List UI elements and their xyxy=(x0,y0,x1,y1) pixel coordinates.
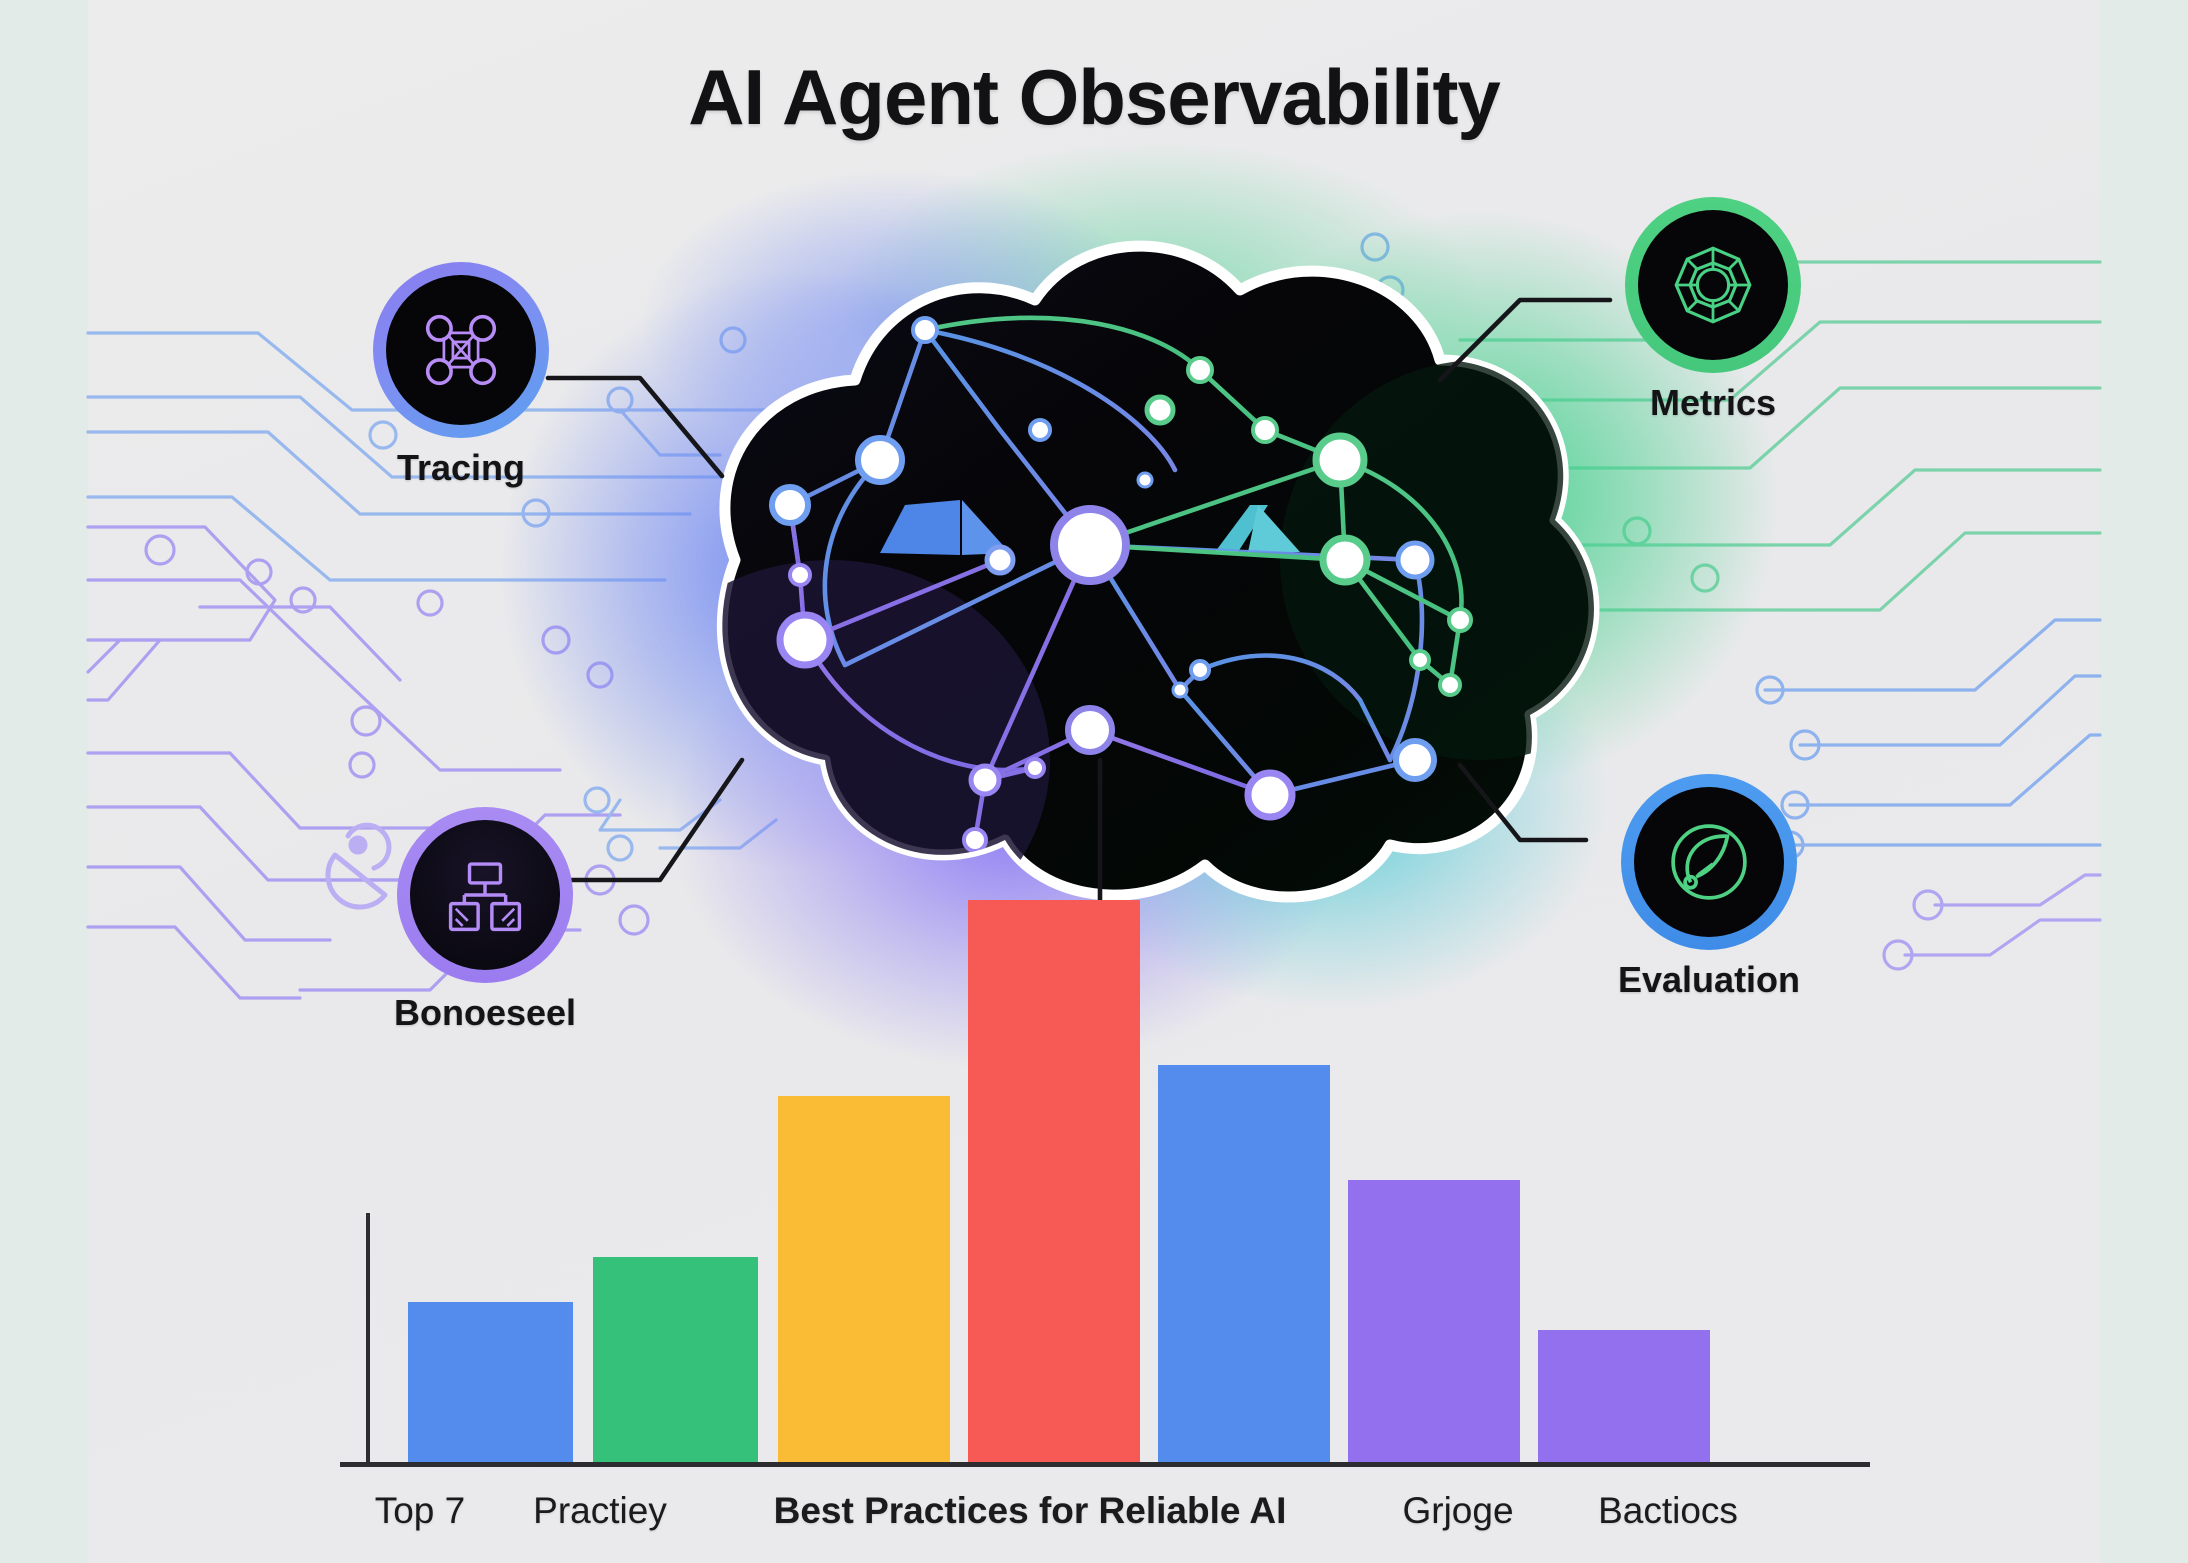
radar-chart-icon xyxy=(1667,239,1759,331)
bar-4-red[interactable] xyxy=(968,900,1140,1462)
evaluation-ring xyxy=(1634,787,1784,937)
node-label: Evaluation xyxy=(1618,959,1800,1001)
node-metrics[interactable]: Metrics xyxy=(1638,210,1788,424)
node-graph-icon xyxy=(416,305,506,395)
node-label: Tracing xyxy=(397,447,525,489)
metrics-ring xyxy=(1638,210,1788,360)
tick-label-practiey: Practiey xyxy=(490,1490,710,1532)
bar-2-green[interactable] xyxy=(593,1257,758,1462)
gauge-icon xyxy=(1663,816,1755,908)
tick-label-best-practices: Best Practices for Reliable AI xyxy=(700,1490,1360,1532)
x-axis-line xyxy=(340,1462,1870,1467)
node-label: Bonoeseel xyxy=(394,992,576,1034)
tracing-ring xyxy=(386,275,536,425)
tick-label-grjoge: Grjoge xyxy=(1348,1490,1568,1532)
hierarchy-icon xyxy=(442,852,528,938)
node-label: Metrics xyxy=(1650,382,1776,424)
node-bonoeseel[interactable]: Bonoeseel xyxy=(394,820,576,1034)
bar-5-blue[interactable] xyxy=(1158,1065,1330,1462)
tick-label-bactiocs: Bactiocs xyxy=(1538,1490,1798,1532)
bar-chart: Top 7 Practiey Best Practices for Reliab… xyxy=(0,0,2188,1563)
node-tracing[interactable]: Tracing xyxy=(386,275,536,489)
tick-label-top7: Top 7 xyxy=(330,1490,510,1532)
bar-6-purple[interactable] xyxy=(1348,1180,1520,1462)
bar-1-blue[interactable] xyxy=(408,1302,573,1462)
bar-3-amber[interactable] xyxy=(778,1096,950,1462)
bonoeseel-ring xyxy=(410,820,560,970)
bar-7-purple[interactable] xyxy=(1538,1330,1710,1462)
node-evaluation[interactable]: Evaluation xyxy=(1618,787,1800,1001)
infographic-canvas: Tracing Bonoeseel Metrics xyxy=(0,0,2188,1563)
